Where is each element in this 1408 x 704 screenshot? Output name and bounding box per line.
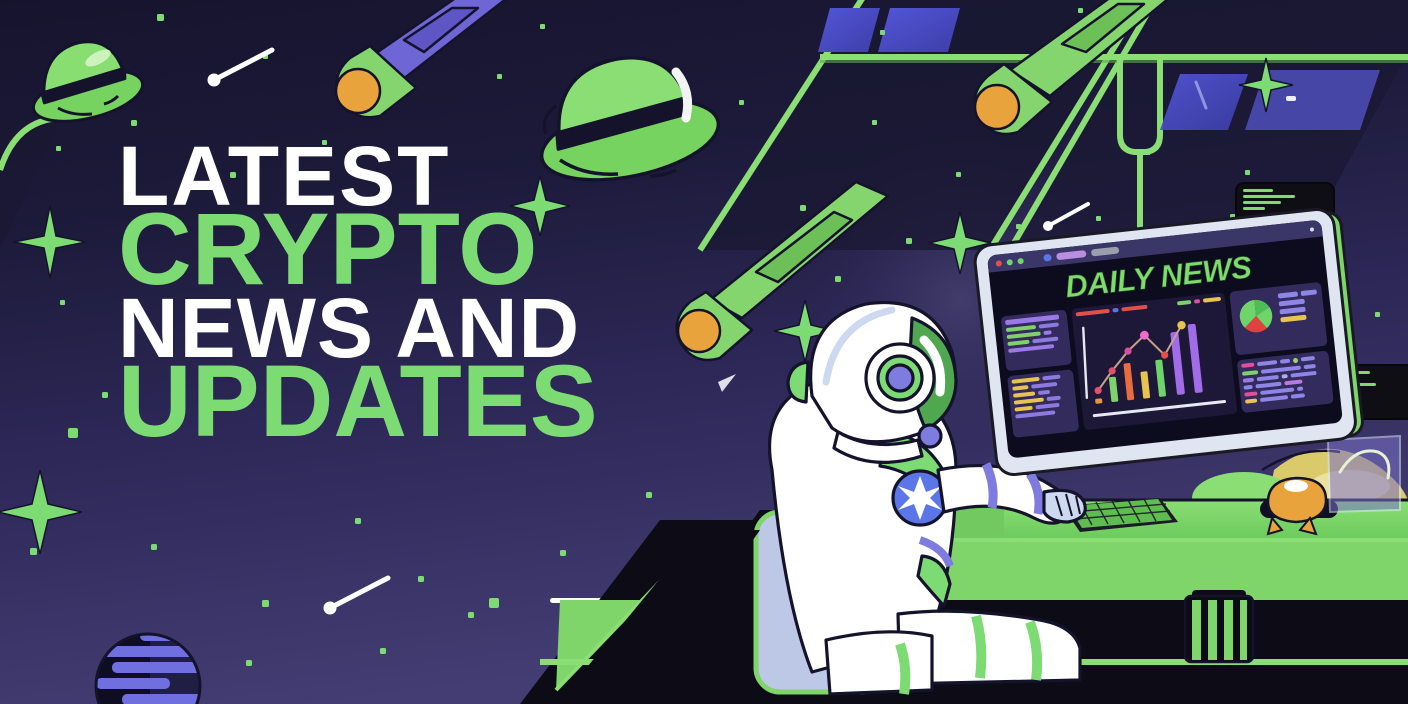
menu-dot-icon[interactable] [1310,227,1314,231]
left-panel [1001,310,1080,438]
pie-chart-card[interactable] [1229,282,1327,356]
search-bar[interactable] [1091,246,1120,256]
maximize-dot-icon[interactable] [1017,257,1024,264]
minimize-dot-icon[interactable] [1006,259,1013,266]
monitor-display[interactable]: DAILY NEWS [987,219,1343,458]
close-dot-icon[interactable] [995,260,1002,267]
center-chart-panel[interactable] [1071,292,1237,430]
article-block-b[interactable] [1007,370,1079,438]
right-panel [1229,282,1334,413]
canisters [1185,590,1253,662]
headline-line-4: UPDATES [118,358,598,446]
address-bar[interactable] [1056,250,1087,260]
tab-favicon [1043,254,1052,262]
article-block-a[interactable] [1001,310,1073,372]
news-feed-card[interactable] [1237,350,1334,413]
hero-banner: LATEST CRYPTO NEWS AND UPDATES [0,0,1408,704]
glass-panel-right [1328,436,1400,512]
pie-chart [1235,292,1278,340]
page-title: LATEST CRYPTO NEWS AND UPDATES [118,140,598,446]
line-and-bar-chart [1076,305,1231,412]
monitor[interactable]: DAILY NEWS [975,209,1356,474]
monitor-bezel: DAILY NEWS [975,209,1356,474]
